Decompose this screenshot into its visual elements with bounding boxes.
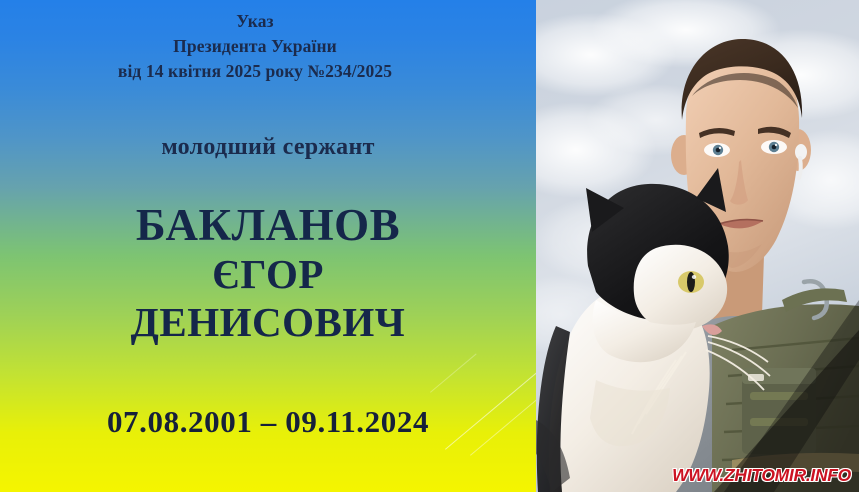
decree-heading: Указ Президента України від 14 квітня 20…	[0, 9, 510, 84]
soldier-photo-illustration	[536, 0, 859, 492]
memorial-card: Указ Президента України від 14 квітня 20…	[0, 0, 859, 492]
soldier-patronymic: ДЕНИСОВИЧ	[0, 300, 536, 346]
decree-line-3: від 14 квітня 2025 року №234/2025	[0, 59, 510, 84]
soldier-photo: WWW.ZHITOMIR.INFO	[536, 0, 859, 492]
soldier-life-dates: 07.08.2001 – 09.11.2024	[0, 404, 536, 440]
soldier-surname: БАКЛАНОВ	[0, 200, 536, 250]
gradient-panel: Указ Президента України від 14 квітня 20…	[0, 0, 536, 492]
soldier-full-name: БАКЛАНОВ ЄГОР ДЕНИСОВИЧ	[0, 200, 536, 346]
soldier-given-name: ЄГОР	[0, 252, 536, 298]
decree-line-2: Президента України	[0, 34, 510, 59]
site-watermark: WWW.ZHITOMIR.INFO	[672, 465, 851, 486]
decree-line-1: Указ	[0, 9, 510, 34]
soldier-rank: молодший сержант	[0, 134, 536, 161]
